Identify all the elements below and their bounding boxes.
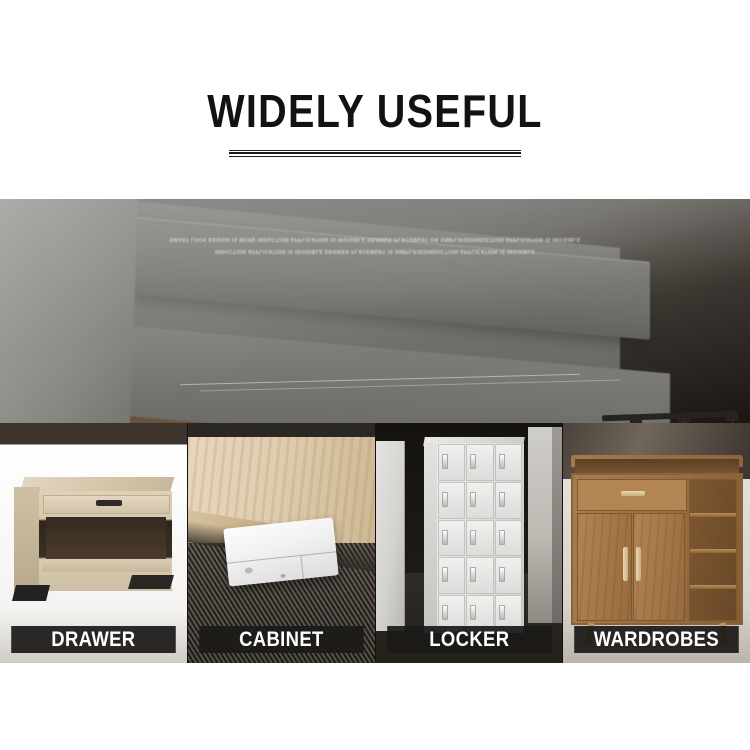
locker-door-grid bbox=[437, 443, 524, 633]
wardrobe-shelf bbox=[690, 585, 736, 589]
nightstand-illustration bbox=[14, 477, 174, 607]
locker-door[interactable] bbox=[466, 520, 494, 557]
locker-door[interactable] bbox=[438, 520, 466, 557]
cabinet-mounted-lock bbox=[223, 517, 338, 586]
locker-door[interactable] bbox=[466, 482, 494, 519]
nightstand-side-panel bbox=[14, 487, 40, 595]
locker-door[interactable] bbox=[495, 557, 523, 594]
wardrobe-handle-left-icon bbox=[623, 547, 628, 581]
application-cell-wardrobes[interactable]: WARDROBES bbox=[563, 423, 750, 663]
lamp-ceiling-bar bbox=[602, 411, 738, 422]
locker-door[interactable] bbox=[466, 557, 494, 594]
hero-banner: INDUCTION APPLICATION IS INVISIBLE DRAWE… bbox=[0, 199, 750, 423]
nightstand-handle-icon bbox=[96, 500, 122, 506]
hero-reflected-caption-line-2: INDUCTION APPLICATION IS INVISIBLE DRAWE… bbox=[0, 245, 750, 257]
nightstand-open-shelf bbox=[46, 517, 166, 559]
lamp-1-cap bbox=[630, 416, 642, 423]
wardrobe-handle-right-icon bbox=[636, 547, 641, 581]
header-section: WIDELY USEFUL bbox=[0, 0, 750, 199]
wardrobe-shelf bbox=[690, 513, 736, 517]
divider-line-bottom bbox=[229, 156, 521, 157]
locker-side-panel bbox=[424, 443, 438, 633]
locker-door[interactable] bbox=[466, 444, 494, 481]
wardrobe-drawer-handle-icon bbox=[621, 491, 645, 496]
wardrobe-open-shelving bbox=[689, 479, 737, 621]
nightstand-shelf-board bbox=[42, 559, 170, 572]
nightstand-base-left bbox=[12, 585, 50, 601]
application-cell-locker[interactable]: LOCKER bbox=[376, 423, 564, 663]
divider-line-middle bbox=[229, 152, 521, 154]
wardrobe-door-right bbox=[633, 513, 685, 621]
application-photo-strip: DRAWER CABINET bbox=[0, 423, 750, 663]
locker-narrow-unit bbox=[376, 441, 405, 631]
application-label-cabinet: CABINET bbox=[199, 626, 363, 653]
title-divider bbox=[229, 150, 521, 157]
application-label-drawer: DRAWER bbox=[11, 626, 175, 653]
hero-reflected-caption-line-1: SMART LOCK DESIGN IS MORE INDUCTION APPL… bbox=[0, 233, 750, 245]
locker-door[interactable] bbox=[495, 444, 523, 481]
locker-door[interactable] bbox=[495, 520, 523, 557]
wardrobe-shelf bbox=[690, 549, 736, 553]
locker-background-panel-2 bbox=[552, 427, 563, 623]
locker-door[interactable] bbox=[438, 557, 466, 594]
divider-line-top bbox=[229, 150, 521, 151]
locker-door[interactable] bbox=[438, 444, 466, 481]
locker-door[interactable] bbox=[495, 482, 523, 519]
wardrobe-illustration bbox=[571, 455, 743, 641]
hero-reflected-caption: INDUCTION APPLICATION IS INVISIBLE DRAWE… bbox=[0, 233, 750, 257]
footer-whitespace bbox=[0, 663, 750, 750]
application-label-locker: LOCKER bbox=[387, 626, 551, 653]
locker-door[interactable] bbox=[438, 482, 466, 519]
page-title: WIDELY USEFUL bbox=[53, 88, 698, 134]
nightstand-base-right bbox=[128, 575, 174, 589]
application-label-wardrobes: WARDROBES bbox=[574, 626, 738, 653]
pendant-lamp-group bbox=[596, 407, 750, 423]
application-cell-drawer[interactable]: DRAWER bbox=[0, 423, 188, 663]
locker-main-unit bbox=[424, 437, 524, 633]
application-cell-cabinet[interactable]: CABINET bbox=[188, 423, 376, 663]
